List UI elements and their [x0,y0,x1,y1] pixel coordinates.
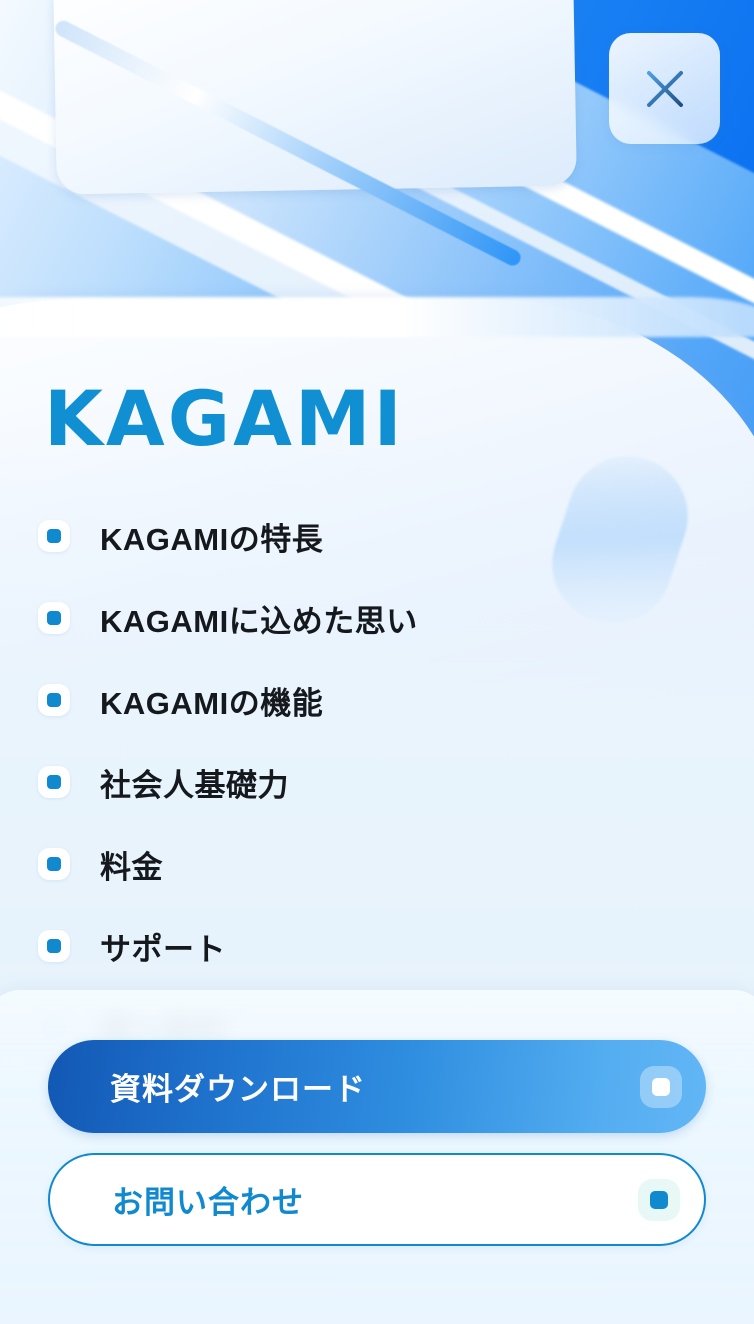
menu-item-label: 社会人基礎力 [100,760,289,805]
square-bullet-icon [38,848,70,880]
square-badge-icon [640,1066,682,1108]
menu-item-pricing[interactable]: 料金 [0,823,754,905]
square-badge-icon [638,1179,680,1221]
square-bullet-icon [38,766,70,798]
menu-item-philosophy[interactable]: KAGAMIに込めた思い [0,577,754,659]
menu-item-label: KAGAMIの特長 [100,514,323,559]
menu-item-label: KAGAMIに込めた思い [100,596,418,641]
menu-item-label: 料金 [100,842,163,887]
artwork-dome-rim [0,297,754,337]
download-materials-label: 資料ダウンロード [110,1064,640,1109]
menu-item-support[interactable]: サポート [0,905,754,987]
brand-logo: KAGAMI [44,374,405,463]
cta-group: 資料ダウンロード お問い合わせ [48,1040,706,1246]
square-bullet-icon [38,520,70,552]
close-menu-button[interactable] [609,33,720,144]
contact-button[interactable]: お問い合わせ [48,1153,706,1246]
menu-item-label: サポート [100,924,226,969]
close-x-icon [643,67,687,111]
download-materials-button[interactable]: 資料ダウンロード [48,1040,706,1133]
menu-item-label: KAGAMIの機能 [100,678,323,723]
menu-item-features[interactable]: KAGAMIの特長 [0,495,754,577]
square-bullet-icon [38,684,70,716]
contact-label: お問い合わせ [112,1177,638,1222]
square-bullet-icon [38,602,70,634]
menu-list: KAGAMIの特長 KAGAMIに込めた思い KAGAMIの機能 社会人基礎力 … [0,495,754,1069]
bottom-cta-sheet: 資料ダウンロード お問い合わせ [0,990,754,1324]
mobile-menu-overlay: KAGAMI KAGAMIの特長 KAGAMIに込めた思い KAGAMIの機能 … [0,0,754,1324]
menu-item-basic-skills[interactable]: 社会人基礎力 [0,741,754,823]
menu-item-functions[interactable]: KAGAMIの機能 [0,659,754,741]
square-bullet-icon [38,930,70,962]
